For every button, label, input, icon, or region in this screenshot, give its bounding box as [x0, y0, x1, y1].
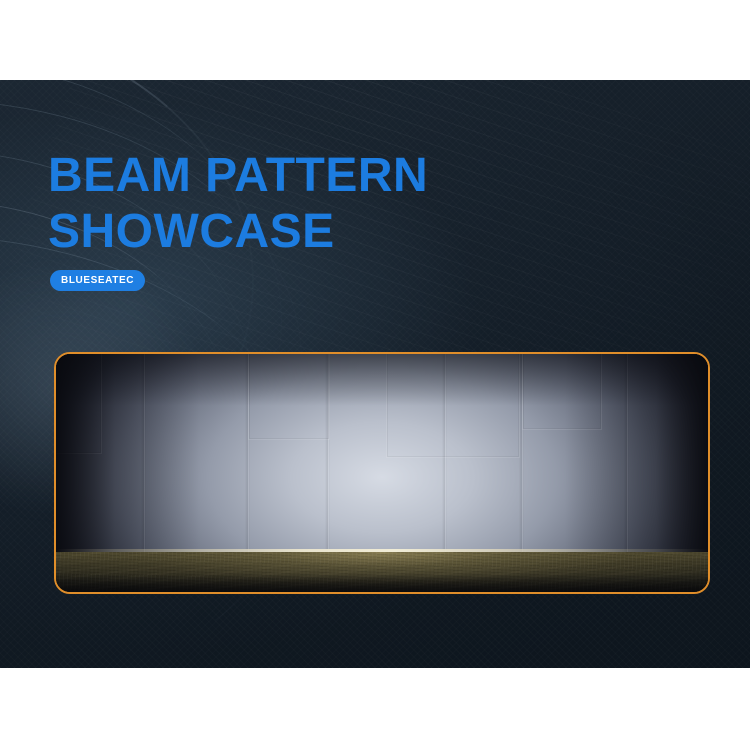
ground-bottom-shadow — [56, 574, 708, 592]
page-canvas: BEAM PATTERN SHOWCASE BLUESEATEC — [0, 0, 750, 750]
photo-ground — [56, 552, 708, 592]
brand-badge: BLUESEATEC — [50, 270, 145, 291]
flood-beam-photo — [56, 354, 708, 592]
photo-wall-vignette — [56, 354, 708, 553]
hero-panel: BEAM PATTERN SHOWCASE BLUESEATEC — [0, 80, 750, 668]
page-title: BEAM PATTERN SHOWCASE — [48, 148, 428, 260]
beam-photo-frame — [54, 352, 710, 594]
